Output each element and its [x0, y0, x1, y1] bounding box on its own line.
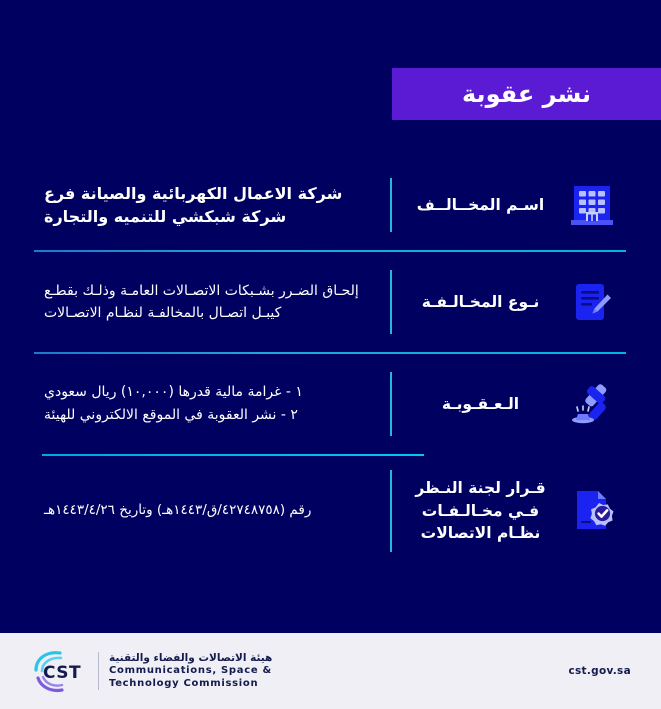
- label-line-1: قـرار لجنة النـظر: [415, 479, 545, 497]
- page-header-banner: نشر عقوبة: [392, 68, 661, 120]
- value-violation-type: إلحـاق الضـرر بشـبكات الاتصـالات العامـة…: [40, 280, 378, 325]
- org-name-english-line-2: Technology Commission: [109, 678, 272, 691]
- row-committee-decision: قـرار لجنة النـظر فـي مخـالـفـات نظـام ا…: [0, 456, 661, 566]
- footer-brand: CST هيئة الاتصالات والفضاء والتقنية Comm…: [30, 648, 272, 694]
- gavel-icon: [563, 375, 621, 433]
- value-committee-decision: رقم (٤٢٧٤٨٧٥٨/ق/١٤٤٣هـ) وتاريخ ١٤٤٣/٤/٢٦…: [40, 500, 378, 522]
- row-divider: [390, 470, 392, 552]
- website-url[interactable]: cst.gov.sa: [568, 665, 631, 677]
- penalty-details-panel: اسـم المخــالــف شركة الاعمال الكهربائية…: [0, 160, 661, 620]
- label-violator-name: اسـم المخــالــف: [398, 194, 563, 216]
- row-violator-name: اسـم المخــالــف شركة الاعمال الكهربائية…: [0, 160, 661, 250]
- footer-org-name: هيئة الاتصالات والفضاء والتقنية Communic…: [109, 652, 272, 691]
- penalty-item-2: ٢ - نشر العقوبة في الموقع الالكتروني لله…: [44, 404, 364, 427]
- label-violation-type: نـوع المخـالـفـة: [398, 291, 563, 313]
- footer-divider: [98, 652, 99, 690]
- svg-text:CST: CST: [43, 663, 81, 683]
- document-pen-icon: [563, 273, 621, 331]
- label-committee-decision: قـرار لجنة النـظر فـي مخـالـفـات نظـام ا…: [398, 477, 563, 544]
- row-penalty: الـعـقـوبـة ١ - غرامة مالية قدرها (١٠,٠٠…: [0, 354, 661, 454]
- page-footer: CST هيئة الاتصالات والفضاء والتقنية Comm…: [0, 633, 661, 709]
- penalty-item-1: ١ - غرامة مالية قدرها (١٠,٠٠٠) ريال سعود…: [44, 381, 364, 404]
- org-name-arabic: هيئة الاتصالات والفضاء والتقنية: [109, 652, 272, 664]
- building-icon: [563, 176, 621, 234]
- page-title: نشر عقوبة: [462, 80, 591, 108]
- label-line-3: نظـام الاتصالات: [421, 524, 541, 542]
- row-divider: [390, 270, 392, 334]
- cst-logo: CST: [30, 648, 88, 694]
- label-line-2: فـي مخـالـفـات: [422, 502, 539, 520]
- document-verified-icon: [563, 482, 621, 540]
- value-violator-name: شركة الاعمال الكهربائية والصيانة فرع شرك…: [40, 182, 378, 228]
- row-violation-type: نـوع المخـالـفـة إلحـاق الضـرر بشـبكات ا…: [0, 252, 661, 352]
- row-divider: [390, 372, 392, 436]
- org-name-english-line-1: Communications, Space &: [109, 665, 272, 678]
- label-penalty: الـعـقـوبـة: [398, 393, 563, 415]
- value-penalty: ١ - غرامة مالية قدرها (١٠,٠٠٠) ريال سعود…: [40, 381, 378, 427]
- row-divider: [390, 178, 392, 232]
